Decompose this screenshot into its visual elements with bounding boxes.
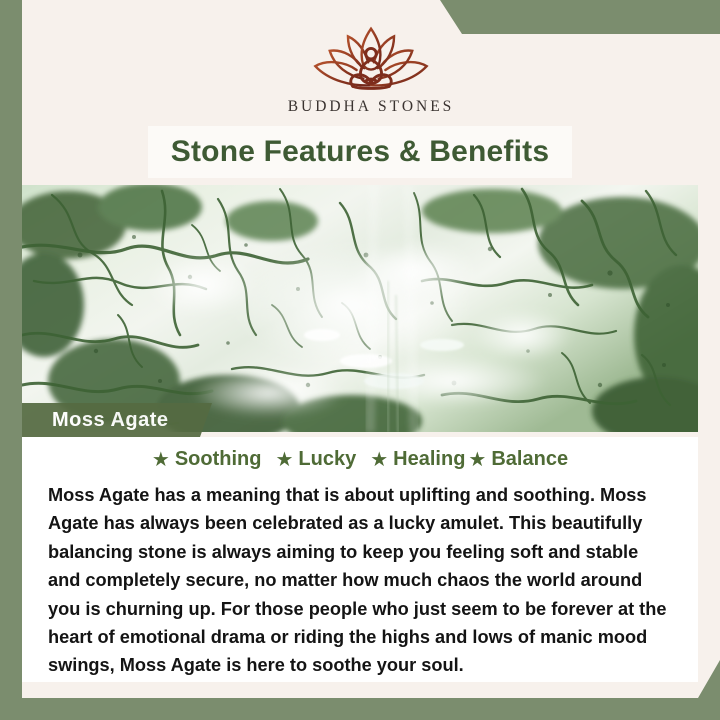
brand-name: BUDDHA STONES	[288, 98, 455, 116]
benefit-label: Healing	[393, 448, 465, 471]
star-icon: ★	[468, 450, 486, 470]
content-panel: ★ Soothing ★ Lucky ★ Healing ★ Balance M…	[22, 437, 698, 682]
benefit-item-healing: ★ Healing	[370, 448, 465, 471]
page-title: Stone Features & Benefits	[171, 135, 549, 169]
title-banner: Stone Features & Benefits	[148, 126, 572, 178]
benefit-label: Lucky	[298, 448, 356, 471]
benefits-row: ★ Soothing ★ Lucky ★ Healing ★ Balance	[22, 437, 698, 471]
star-icon: ★	[370, 450, 388, 470]
benefit-item-lucky: ★ Lucky	[275, 448, 356, 471]
stone-photo	[22, 185, 698, 432]
stone-name-plate: Moss Agate	[22, 403, 212, 437]
star-icon: ★	[275, 450, 293, 470]
benefit-item-soothing: ★ Soothing	[152, 448, 262, 471]
benefit-label: Soothing	[175, 448, 262, 471]
stone-description: Moss Agate has a meaning that is about u…	[22, 471, 698, 680]
bottom-cream-strip	[22, 682, 698, 698]
lotus-meditation-figure-icon	[296, 22, 446, 94]
stone-name-label: Moss Agate	[22, 409, 169, 432]
benefit-label: Balance	[491, 448, 568, 471]
star-icon: ★	[152, 450, 170, 470]
brand-header: BUDDHA STONES	[22, 0, 720, 128]
benefit-item-balance: ★ Balance	[468, 448, 568, 471]
